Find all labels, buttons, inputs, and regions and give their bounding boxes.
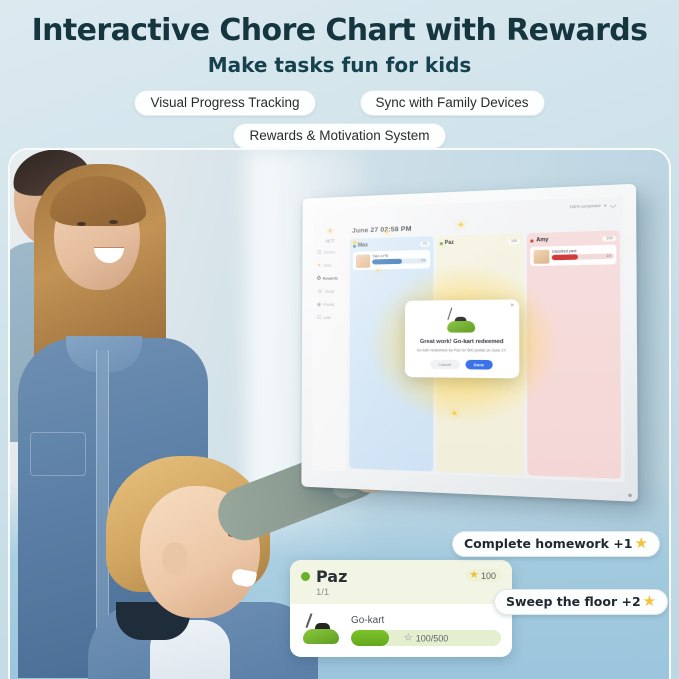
cancel-button[interactable]: Cancel xyxy=(430,360,460,370)
star-icon: ★ xyxy=(469,570,479,581)
kid-name-label: Max xyxy=(358,242,368,248)
sidebar-item-lists[interactable]: ☷ Lists xyxy=(313,311,347,324)
sidebar-item-chores[interactable]: ☰ Chores xyxy=(313,245,347,259)
task-progress-bar: 2/3 xyxy=(372,258,427,264)
task-info: Unsorted yard 1/3 xyxy=(552,247,613,260)
sidebar-item-rewards[interactable]: ⏱ Rewards xyxy=(313,271,347,285)
kid-points-badge: 70 xyxy=(420,241,430,246)
woman-eye-left xyxy=(77,222,86,226)
task-card[interactable]: Unsorted yard 1/3 xyxy=(531,245,617,267)
reward-redeemed-modal[interactable]: ✕ Great work! Go-kart redeemed Go-kart r… xyxy=(405,299,519,378)
temperature-label: 86°F xyxy=(313,238,347,244)
paz-task-fraction: 1/1 xyxy=(316,587,501,598)
kid-column-header: Amy 100 xyxy=(531,235,617,244)
tablet-screen[interactable]: 100% completed ● ◡ ☀ 86°F ☰ Chores ★ Sta… xyxy=(312,196,624,482)
sidebar-item-label: Chores xyxy=(323,250,335,254)
trophy-icon: ⏱ xyxy=(317,275,321,281)
wifi-icon: ◡ xyxy=(610,201,616,209)
task-title: Take a Pill xyxy=(372,252,427,258)
kid-name-label: Paz xyxy=(445,240,454,247)
paz-progress-label-group: ☆ 100/500 xyxy=(404,633,449,644)
task-progress-fill xyxy=(552,254,578,260)
task-progress-label: 2/3 xyxy=(421,259,425,263)
weather-widget: ☀ 86°F xyxy=(313,227,347,244)
status-dot xyxy=(439,242,442,245)
kid-name-paz: Paz xyxy=(439,240,454,247)
wall-mounted-tablet: 100% completed ● ◡ ☀ 86°F ☰ Chores ★ Sta… xyxy=(301,184,638,502)
task-progress-label: 1/3 xyxy=(606,254,611,258)
close-icon[interactable]: ✕ xyxy=(510,303,515,309)
callout-label: Sweep the floor +2 xyxy=(506,594,641,609)
paz-reward-title: Go-kart xyxy=(351,615,501,626)
go-kart-icon xyxy=(301,612,343,646)
status-dot xyxy=(301,572,310,581)
notes-icon: ☷ xyxy=(317,314,321,320)
modal-title: Great work! Go-kart redeemed xyxy=(413,339,510,345)
task-progress-bar: 1/3 xyxy=(552,253,613,260)
callout-sweep-floor: Sweep the floor +2 ★ xyxy=(494,589,668,615)
completion-status-text: 100% completed xyxy=(569,203,600,209)
task-title: Unsorted yard xyxy=(552,247,613,253)
woman-shirt-pocket xyxy=(30,432,86,476)
paz-name-label: Paz xyxy=(316,567,347,586)
kid-column-header: Paz 100 xyxy=(439,238,520,247)
task-card[interactable]: Take a Pill 2/3 xyxy=(353,250,430,270)
star-icon: ★ xyxy=(643,594,656,609)
kid-name-max: Max xyxy=(353,242,368,249)
task-progress-fill xyxy=(372,259,402,265)
modal-body-text: Go-kart redeemed by Paz for 500 points o… xyxy=(413,348,510,354)
tablet-indicator-led xyxy=(628,494,632,497)
list-icon: ☰ xyxy=(317,249,321,255)
kid-points-badge: 100 xyxy=(508,238,521,244)
feature-pill-rewards-motivation: Rewards & Motivation System xyxy=(233,123,445,149)
meal-icon: ☏ xyxy=(317,288,323,294)
paz-points-value: 100 xyxy=(481,571,496,581)
kid-column-header: Max 70 xyxy=(353,240,430,248)
paz-progress-label: 100/500 xyxy=(416,633,449,643)
callout-complete-homework: Complete homework +1 ★ xyxy=(452,531,660,557)
kid-name-amy: Amy xyxy=(531,237,549,244)
go-kart-icon xyxy=(443,309,480,334)
kid-column-amy[interactable]: Amy 100 Unsorted yard 1/3 xyxy=(527,230,621,479)
sidebar-item-photos[interactable]: ◉ Photos xyxy=(313,297,347,310)
status-dot xyxy=(353,244,356,247)
paz-card-header: Paz 1/1 ★ 100 xyxy=(290,560,512,604)
paz-progress-bar: ☆ 100/500 xyxy=(351,630,501,646)
paz-card-body: Go-kart ☆ 100/500 xyxy=(290,604,512,657)
sidebar-item-label: Photos xyxy=(323,302,334,306)
feature-pill-visual-progress: Visual Progress Tracking xyxy=(134,90,315,116)
done-button[interactable]: Done xyxy=(465,360,493,370)
sidebar-item-meals[interactable]: ☏ Meals xyxy=(313,284,347,298)
star-outline-icon: ☆ xyxy=(404,633,413,644)
app-sidebar[interactable]: ☀ 86°F ☰ Chores ★ Stars ⏱ Rewards ☏ Meal… xyxy=(312,223,347,471)
paz-reward-details: Go-kart ☆ 100/500 xyxy=(351,615,501,646)
woman-eye-right xyxy=(109,220,118,224)
status-dot xyxy=(531,239,534,242)
sidebar-item-label: Stars xyxy=(323,263,331,267)
sidebar-item-stars[interactable]: ★ Stars xyxy=(313,258,347,272)
feature-pill-row-1: Visual Progress Tracking Sync with Famil… xyxy=(20,90,659,116)
boy-ear xyxy=(162,542,188,576)
callout-label: Complete homework +1 xyxy=(464,536,632,551)
sync-icon: ● xyxy=(604,203,607,207)
task-info: Take a Pill 2/3 xyxy=(372,252,427,264)
paz-points-badge: ★ 100 xyxy=(466,569,502,582)
task-thumbnail xyxy=(533,249,549,263)
star-icon: ★ xyxy=(317,262,321,268)
paz-reward-card[interactable]: Paz 1/1 ★ 100 Go-kart ☆ 100/500 xyxy=(290,560,512,657)
feature-pill-row-2: Rewards & Motivation System xyxy=(20,123,659,149)
page-subtitle: Make tasks fun for kids xyxy=(20,53,659,77)
paz-progress-fill xyxy=(351,630,389,646)
promo-header: Interactive Chore Chart with Rewards Mak… xyxy=(0,0,679,149)
sidebar-item-label: Meals xyxy=(325,289,335,293)
sun-icon: ☀ xyxy=(313,227,347,238)
sidebar-item-label: Rewards xyxy=(323,276,338,280)
task-thumbnail xyxy=(355,254,369,268)
kid-name-label: Amy xyxy=(536,237,548,244)
photo-icon: ◉ xyxy=(317,301,321,307)
kid-points-badge: 100 xyxy=(603,235,617,241)
sidebar-item-label: Lists xyxy=(323,315,330,319)
feature-pill-sync-devices: Sync with Family Devices xyxy=(360,90,545,116)
modal-actions: Cancel Done xyxy=(413,360,510,370)
page-title: Interactive Chore Chart with Rewards xyxy=(20,14,659,48)
star-icon: ★ xyxy=(634,536,647,551)
